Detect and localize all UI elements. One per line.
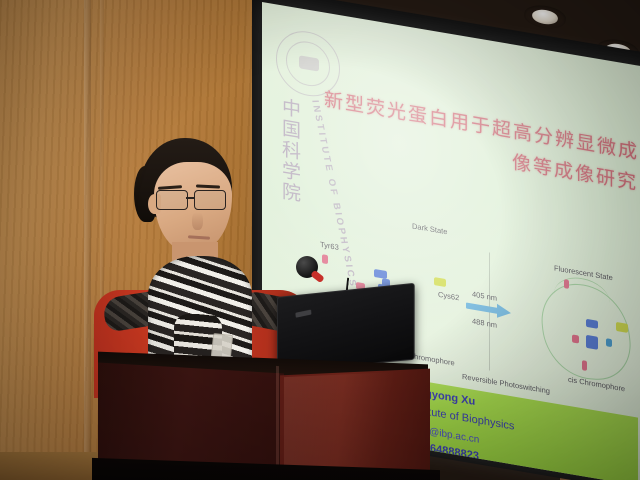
podium-front-right (280, 369, 430, 480)
arrow-head (497, 304, 511, 320)
atom-right-3 (616, 322, 628, 333)
glasses-lens-right (194, 190, 226, 210)
atom-right-7 (582, 360, 587, 371)
downlight-inner-1 (531, 8, 560, 27)
atom-left-7 (434, 277, 446, 287)
label-wavelength-488: 488 nm (472, 317, 497, 330)
atom-right-4 (572, 334, 579, 343)
podium-corner-edge (276, 366, 279, 480)
atom-right-1 (564, 279, 569, 289)
glasses-lens-left (156, 190, 188, 210)
nose (192, 212, 203, 230)
label-dark-state: Dark State (412, 221, 447, 236)
presentation-photo-scene: 中国科学院 INSTITUTE OF BIOPHYSICS 新型荧光蛋白用于超高… (0, 0, 640, 480)
glasses-icon (154, 190, 234, 210)
glasses-bridge (186, 197, 195, 199)
label-cys62: Cys62 (438, 290, 459, 303)
atom-left-2 (374, 269, 387, 279)
podium (98, 358, 428, 480)
name-badge (211, 333, 233, 359)
ceiling-downlight-1 (522, 3, 567, 32)
seal-core (299, 55, 319, 71)
laptop-logo (295, 310, 311, 318)
atom-right-6 (606, 338, 612, 347)
wall-panel-seam-1 (84, 0, 91, 480)
speaker-figure (96, 138, 306, 388)
atom-right-5 (586, 335, 598, 350)
slide-title: 新型荧光蛋白用于超高分辨显微成 像等成像研究 (324, 84, 640, 201)
arrow-bar (466, 303, 500, 315)
label-tyr63: Tyr63 (320, 240, 339, 252)
